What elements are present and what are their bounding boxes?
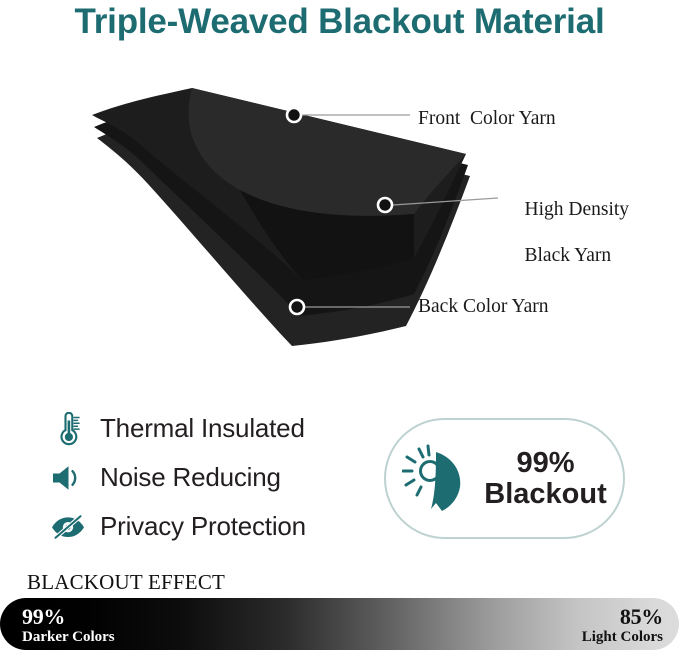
features-list: Thermal Insulated Noise Reducing Privacy… — [48, 406, 358, 553]
blackout-effect-heading: BLACKOUT EFFECT — [27, 570, 225, 595]
fabric-diagram: Front Color Yarn High Density Black Yarn… — [0, 80, 679, 365]
speaker-sound-icon — [48, 458, 88, 498]
feature-label-noise: Noise Reducing — [100, 462, 281, 493]
callout-dot-icon-high-density — [378, 198, 392, 212]
callout-dot-icon-back — [290, 300, 304, 314]
callout-dot-icon-front — [287, 108, 301, 122]
feature-item-noise: Noise Reducing — [48, 455, 358, 500]
callout-label-front: Front Color Yarn — [418, 107, 556, 130]
callout-label-high-density-line1: High Density — [525, 199, 630, 220]
bar-stat-light-colors: 85% Light Colors — [582, 606, 663, 645]
callout-label-high-density: High Density Black Yarn — [505, 175, 629, 290]
feature-label-thermal: Thermal Insulated — [100, 413, 305, 444]
blackout-badge-percent: 99% — [484, 448, 606, 478]
blackout-badge-text: 99% Blackout — [484, 448, 606, 508]
feature-item-thermal: Thermal Insulated — [48, 406, 358, 451]
thermometer-icon — [48, 409, 88, 449]
page-title: Triple-Weaved Blackout Material — [0, 2, 679, 42]
feature-item-privacy: Privacy Protection — [48, 504, 358, 549]
feature-label-privacy: Privacy Protection — [100, 511, 306, 542]
bar-stat-light-caption: Light Colors — [582, 630, 663, 645]
bar-stat-darker-caption: Darker Colors — [22, 630, 115, 645]
sun-blocked-by-curtain-icon — [402, 443, 476, 515]
eye-slash-icon — [48, 507, 88, 547]
bar-stat-darker-percent: 99% — [22, 606, 115, 628]
bar-stat-darker-colors: 99% Darker Colors — [22, 606, 115, 645]
callout-label-back: Back Color Yarn — [418, 295, 549, 318]
callout-label-high-density-line2: Black Yarn — [525, 245, 612, 266]
blackout-badge-word: Blackout — [484, 479, 606, 509]
blackout-badge: 99% Blackout — [384, 418, 625, 539]
bar-stat-light-percent: 85% — [582, 606, 663, 628]
